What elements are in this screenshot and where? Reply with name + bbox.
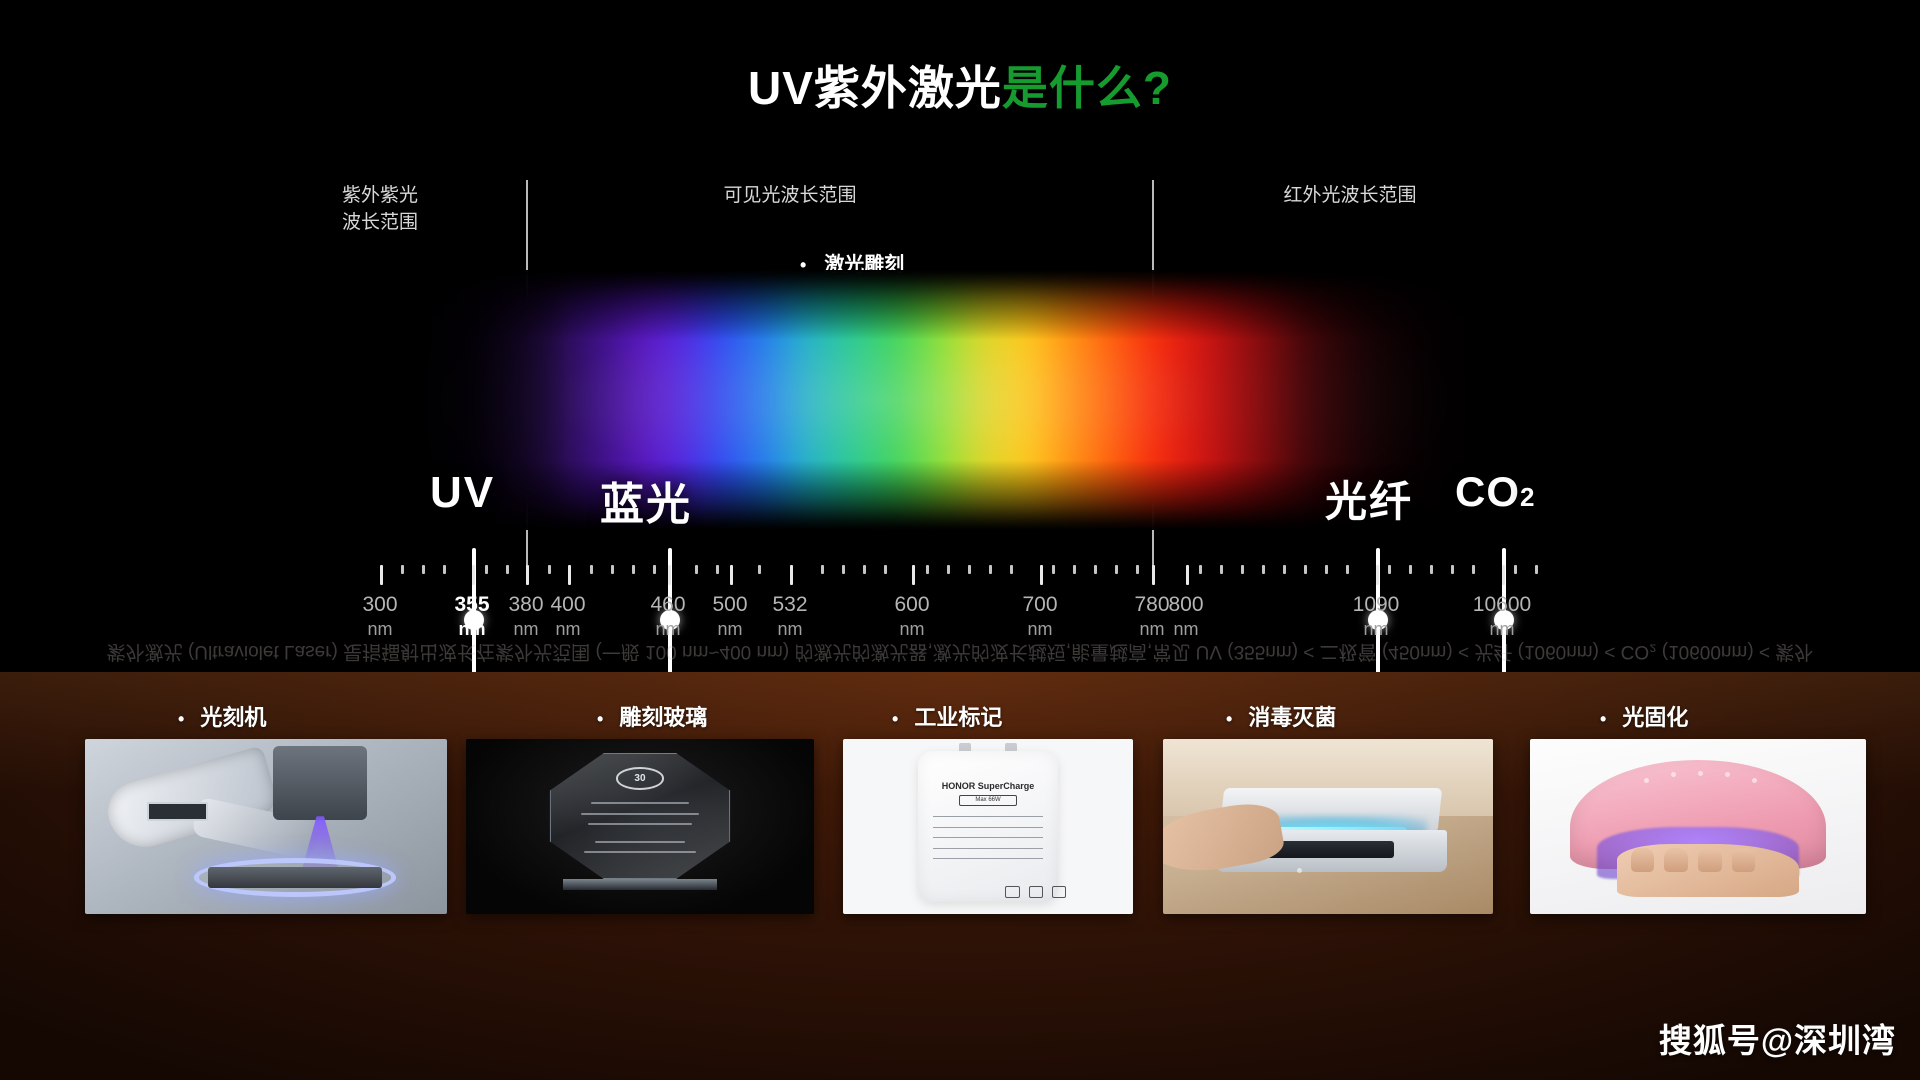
etch-line — [581, 813, 699, 815]
ruler-tick-minor — [485, 565, 488, 574]
ruler-tick-minor — [1010, 565, 1013, 574]
ruler-tick-minor — [443, 565, 446, 574]
ruler-tick-major — [912, 565, 915, 585]
ruler-label-unit: nm — [872, 617, 952, 642]
application-label-sterilization: •消毒灭菌 — [1226, 700, 1336, 732]
ruler-tick-minor — [1136, 565, 1139, 574]
bullet-icon: • — [597, 709, 603, 730]
ruler-tick-major — [668, 565, 671, 585]
thumbnail-scene — [85, 739, 447, 914]
wafer-chip-shape — [147, 802, 209, 821]
ruler-tick-minor — [506, 565, 509, 574]
ruler-tick-minor — [1388, 565, 1391, 574]
bullet-icon: • — [892, 709, 898, 730]
ruler-tick-minor — [863, 565, 866, 574]
ruler-tick-minor — [611, 565, 614, 574]
ruler-tick-minor — [1535, 565, 1538, 574]
ruler-label-600: 600nm — [872, 592, 952, 642]
charger-brand-text: HONOR SuperCharge — [930, 781, 1046, 791]
band-label-co2: CO2 — [1455, 468, 1535, 516]
stage-plate-shape — [208, 867, 382, 888]
page-title: UV紫外激光是什么? — [0, 52, 1920, 118]
ruler-label-800: 800nm — [1146, 592, 1226, 642]
application-thumbnail-glass-engraving[interactable]: 30 — [466, 739, 814, 914]
watermark: 搜狐号@深圳湾 — [1659, 1014, 1896, 1062]
certification-mark-shape — [1029, 886, 1044, 898]
ruler-tick-minor — [947, 565, 950, 574]
certification-mark-shape — [1052, 886, 1067, 898]
ruler-tick-minor — [1220, 565, 1223, 574]
application-label-uv-curing: •光固化 — [1600, 700, 1688, 732]
ruler-tick-major — [380, 565, 383, 585]
ruler-tick-major — [1376, 565, 1379, 585]
ruler-tick-minor — [1346, 565, 1349, 574]
ruler-tick-minor — [1472, 565, 1475, 574]
ruler-tick-major — [1186, 565, 1189, 585]
ruler-tick-minor — [695, 565, 698, 574]
ruler-tick-minor — [1094, 565, 1097, 574]
ruler-label-unit: nm — [1462, 617, 1542, 642]
application-label-industrial-marking: •工业标记 — [892, 700, 1002, 732]
ruler-label-532: 532nm — [750, 592, 830, 642]
spectrum-fade-top — [390, 270, 1570, 340]
trophy-base-shape — [563, 879, 716, 890]
ruler-label-value: 1090 — [1353, 593, 1400, 616]
ruler-tick-major — [1502, 565, 1505, 585]
ruler-tick-minor — [1451, 565, 1454, 574]
etch-line — [584, 851, 695, 853]
ruler-label-value: 10600 — [1473, 593, 1531, 616]
ruler-tick-minor — [821, 565, 824, 574]
ruler-tick-minor — [548, 565, 551, 574]
ruler-tick-minor — [1262, 565, 1265, 574]
ruler-label-value: 532 — [772, 593, 807, 616]
ruler-tick-minor — [1409, 565, 1412, 574]
bullet-icon: • — [1226, 709, 1232, 730]
stray-highlight-dot — [1297, 868, 1302, 873]
ruler-label-unit: nm — [340, 617, 420, 642]
ruler-tick-minor — [968, 565, 971, 574]
thumbnail-scene — [1530, 739, 1866, 914]
application-label-text: 消毒灭菌 — [1248, 705, 1336, 730]
range-label-infrared: 红外光波长范围 — [1200, 182, 1500, 209]
ruler-tick-minor — [1283, 565, 1286, 574]
ruler-tick-minor — [989, 565, 992, 574]
ruler-tick-minor — [653, 565, 656, 574]
ruler-label-value: 500 — [712, 593, 747, 616]
ruler-label-10600: 10600nm — [1462, 592, 1542, 642]
ruler-tick-major — [790, 565, 793, 585]
application-thumbnail-lithography[interactable] — [85, 739, 447, 914]
ruler-label-unit: nm — [1000, 617, 1080, 642]
ruler-tick-major — [526, 565, 529, 585]
certification-mark-shape — [1005, 886, 1020, 898]
ruler-tick-minor — [1073, 565, 1076, 574]
ruler-tick-minor — [1241, 565, 1244, 574]
ruler-label-value: 355 — [454, 593, 489, 616]
thumbnail-scene — [1163, 739, 1493, 914]
ruler-tick-minor — [1325, 565, 1328, 574]
band-label-blue: 蓝光 — [600, 468, 692, 532]
wavelength-ruler-labels: 300nm355nm380nm400nm460nm500nm532nm600nm… — [0, 592, 1920, 662]
ruler-tick-minor — [1514, 565, 1517, 574]
charger-power-badge: Max 66W — [959, 795, 1017, 806]
bullet-icon: • — [1600, 709, 1606, 730]
ruler-tick-major — [568, 565, 571, 585]
ruler-tick-major — [472, 565, 475, 585]
etch-line — [591, 802, 688, 804]
range-label-visible: 可见光波长范围 — [660, 182, 920, 209]
applications-section: •光刻机 •雕刻玻璃 •工业标记 •消毒灭菌 •光固化 — [0, 672, 1920, 1080]
ruler-tick-minor — [926, 565, 929, 574]
etch-line — [595, 841, 685, 843]
ruler-label-unit: nm — [1146, 617, 1226, 642]
ruler-label-unit: nm — [1336, 617, 1416, 642]
band-label-fiber: 光纤 — [1325, 468, 1413, 529]
ruler-label-value: 400 — [550, 593, 585, 616]
application-thumbnail-sterilization[interactable] — [1163, 739, 1493, 914]
band-label-co2-sub: 2 — [1520, 482, 1535, 512]
ruler-tick-major — [1040, 565, 1043, 585]
page-title-main: UV紫外激光 — [748, 62, 1002, 114]
ruler-tick-minor — [401, 565, 404, 574]
application-label-text: 光固化 — [1622, 705, 1688, 730]
application-label-glass-engraving: •雕刻玻璃 — [597, 700, 707, 732]
ruler-tick-minor — [1052, 565, 1055, 574]
ruler-tick-minor — [1304, 565, 1307, 574]
application-thumbnail-uv-curing[interactable] — [1530, 739, 1866, 914]
ruler-label-unit: nm — [528, 617, 608, 642]
ruler-tick-minor — [1115, 565, 1118, 574]
ruler-tick-minor — [716, 565, 719, 574]
ruler-tick-major — [1152, 565, 1155, 585]
trophy-seal: 30 — [616, 767, 665, 790]
etch-line — [588, 823, 692, 825]
laser-head-shape — [273, 746, 367, 820]
application-thumbnail-industrial-marking[interactable]: HONOR SuperCharge Max 66W — [843, 739, 1133, 914]
ruler-label-400: 400nm — [528, 592, 608, 642]
ruler-label-700: 700nm — [1000, 592, 1080, 642]
slide-root: UV紫外激光是什么? 紫外紫光 波长范围 可见光波长范围 红外光波长范围 •激光… — [0, 0, 1920, 1080]
application-label-text: 工业标记 — [914, 705, 1002, 730]
page-title-accent: 是什么? — [1002, 62, 1172, 114]
application-label-lithography: •光刻机 — [178, 700, 266, 732]
ruler-tick-minor — [1199, 565, 1202, 574]
ruler-label-value: 300 — [362, 593, 397, 616]
application-label-text: 雕刻玻璃 — [619, 705, 707, 730]
ruler-tick-minor — [758, 565, 761, 574]
thumbnail-scene: 30 — [466, 739, 814, 914]
application-label-text: 光刻机 — [200, 705, 266, 730]
range-label-uv: 紫外紫光 波长范围 — [300, 182, 460, 236]
ruler-tick-minor — [1430, 565, 1433, 574]
ruler-tick-minor — [884, 565, 887, 574]
band-label-co2-text: CO — [1455, 468, 1520, 515]
ruler-label-value: 600 — [894, 593, 929, 616]
ruler-tick-minor — [590, 565, 593, 574]
ruler-tick-minor — [842, 565, 845, 574]
ruler-tick-major — [730, 565, 733, 585]
band-label-uv: UV — [430, 468, 495, 518]
ruler-label-1090: 1090nm — [1336, 592, 1416, 642]
ruler-label-value: 800 — [1168, 593, 1203, 616]
bullet-icon: • — [178, 709, 184, 730]
ruler-label-value: 700 — [1022, 593, 1057, 616]
wavelength-ruler — [360, 565, 1560, 587]
ruler-tick-minor — [632, 565, 635, 574]
ruler-tick-minor — [422, 565, 425, 574]
ruler-label-300: 300nm — [340, 592, 420, 642]
ruler-label-unit: nm — [750, 617, 830, 642]
ruler-label-value: 460 — [650, 593, 685, 616]
thumbnail-scene: HONOR SuperCharge Max 66W — [843, 739, 1133, 914]
